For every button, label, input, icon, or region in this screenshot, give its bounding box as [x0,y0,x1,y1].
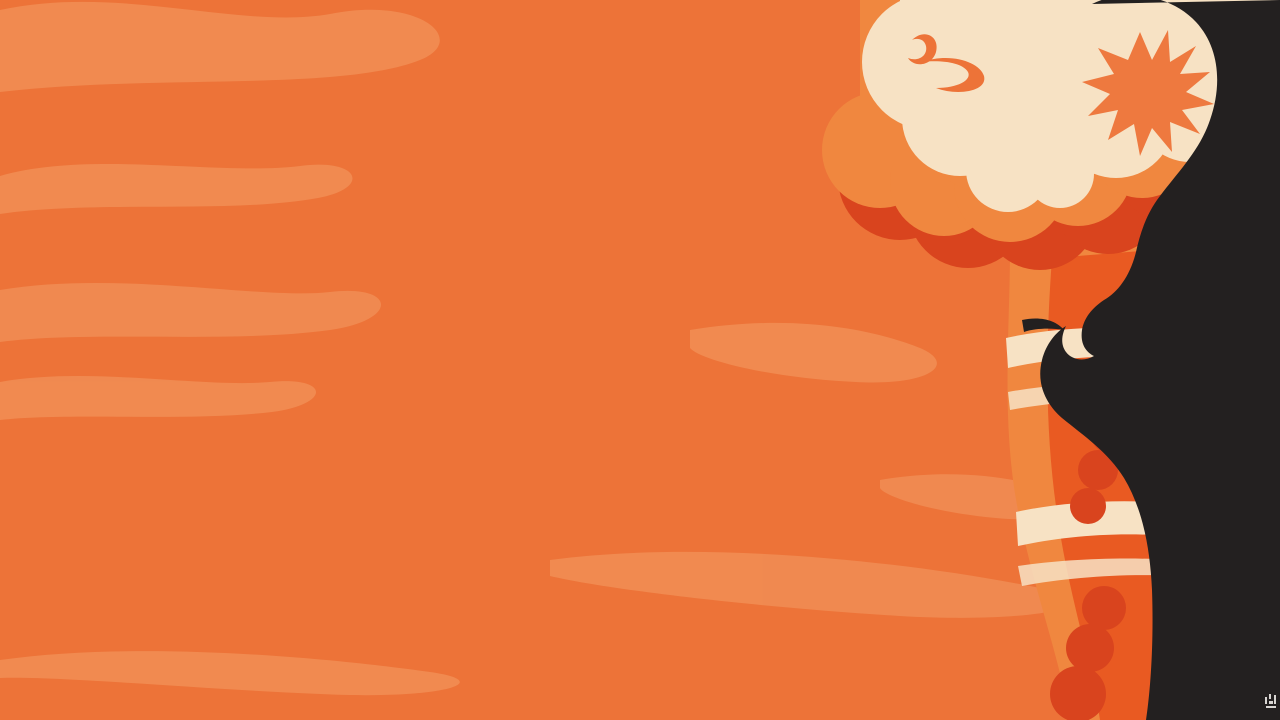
oppenheimer-silhouette [1022,0,1280,720]
swoosh-shapes [0,2,1073,695]
office-timeline-logo-icon [1265,694,1277,708]
watermark [1264,690,1278,712]
timeline-infographic [0,0,1280,720]
background-artwork [0,0,1280,720]
header [0,34,1000,44]
mushroom-stem [1006,240,1262,720]
